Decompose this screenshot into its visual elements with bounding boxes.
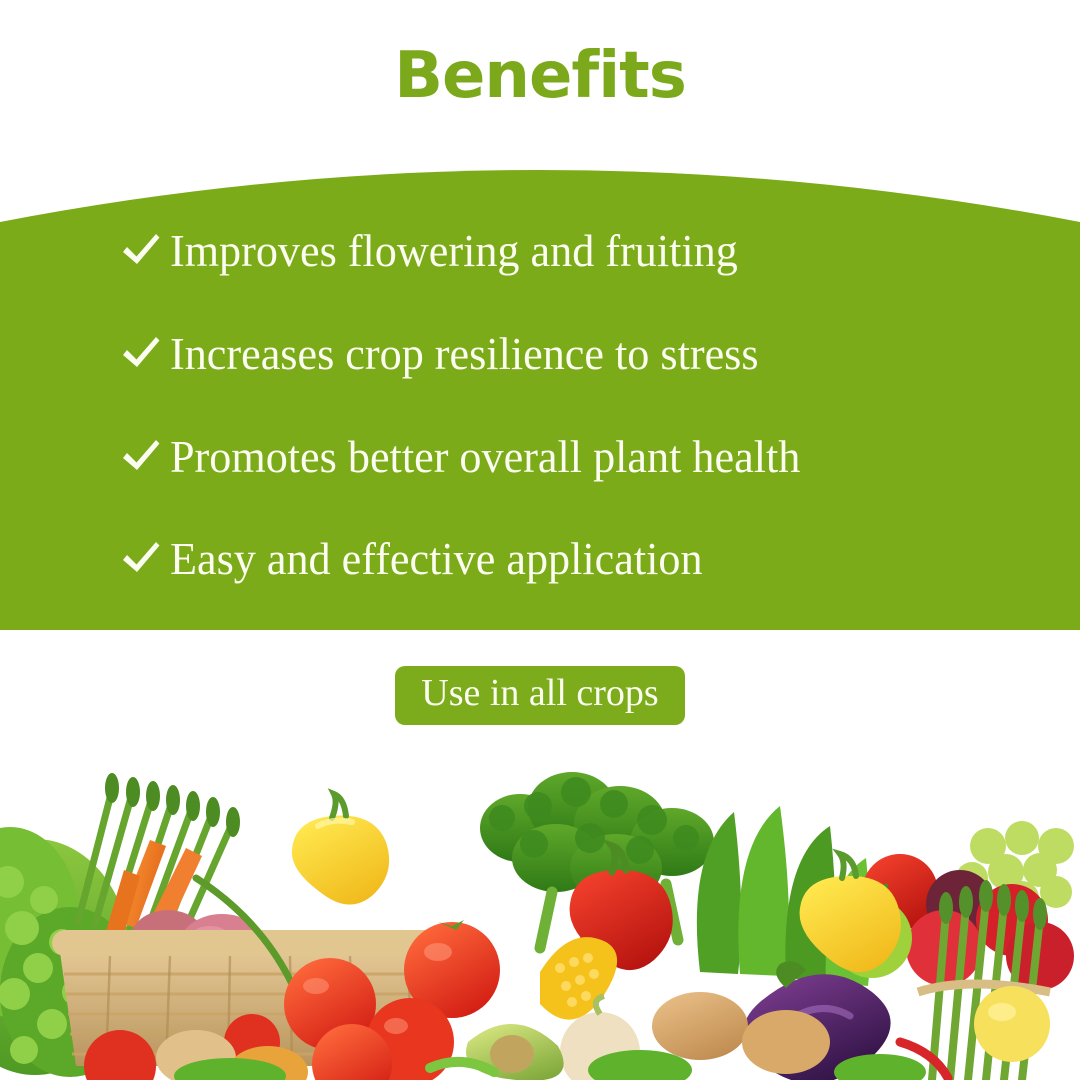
list-item[interactable]: Increases crop resilience to stress [118,331,783,377]
check-icon [118,228,164,274]
check-icon [118,331,164,377]
page-title-container: Benefits [0,44,1080,108]
list-item[interactable]: Promotes better overall plant health [118,434,827,480]
promo-card: Benefits Improves flowering and fruiting… [0,0,1080,1080]
list-item-label: Increases crop resilience to stress [170,331,759,377]
badge-container: Use in all crops [0,666,1080,725]
list-item[interactable]: Easy and effective application [118,536,725,582]
check-icon [118,536,164,582]
use-in-all-crops-badge[interactable]: Use in all crops [395,666,684,725]
page-title: Benefits [394,44,686,108]
list-item-label: Easy and effective application [170,536,703,582]
produce-photo [0,742,1080,1080]
check-icon [118,434,164,480]
list-item-label: Promotes better overall plant health [170,434,800,480]
list-item-label: Improves flowering and fruiting [170,228,738,274]
list-item[interactable]: Improves flowering and fruiting [118,228,761,274]
